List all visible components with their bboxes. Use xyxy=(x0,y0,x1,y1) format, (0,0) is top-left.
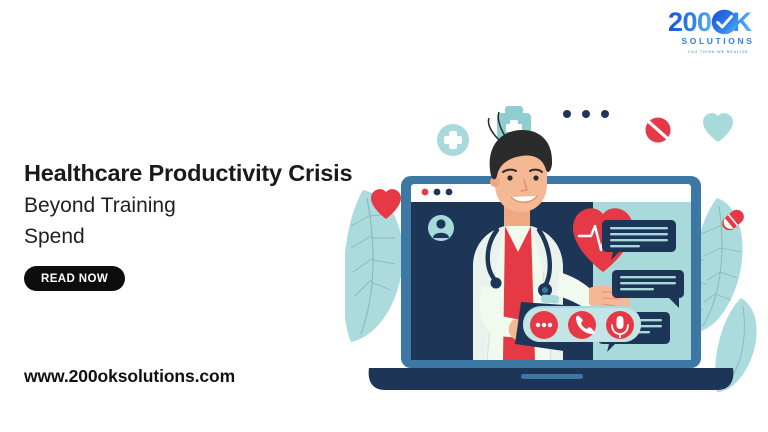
banner-root: 200 K SOLUTIONS YOU THINK WE REALI xyxy=(0,0,768,432)
leaf-icon-left xyxy=(345,190,403,342)
browser-dot-red xyxy=(422,189,429,196)
logo-subtitle: SOLUTIONS xyxy=(671,36,765,46)
brand-logo[interactable]: 200 K SOLUTIONS YOU THINK WE REALI xyxy=(655,8,765,56)
tablet-pill-icon xyxy=(646,118,671,143)
logo-number-text: 200 xyxy=(668,8,712,36)
telemedicine-illustration xyxy=(345,80,768,410)
logo-wordmark-row: 200 K xyxy=(655,8,765,36)
website-url[interactable]: www.200oksolutions.com xyxy=(24,366,235,387)
read-now-button[interactable]: READ NOW xyxy=(24,266,125,291)
laptop-trackpad-notch xyxy=(521,374,583,379)
user-avatar-icon xyxy=(428,215,454,241)
speech-bubble-icon xyxy=(545,94,627,148)
call-controls-group xyxy=(523,308,641,342)
microphone-icon[interactable] xyxy=(606,311,634,339)
browser-dot-3 xyxy=(446,189,453,196)
more-options-icon[interactable] xyxy=(530,311,558,339)
browser-dot-2 xyxy=(434,189,441,196)
logo-tagline: YOU THINK WE REALIZE xyxy=(671,50,765,54)
heart-icon-teal xyxy=(703,113,733,142)
check-icon xyxy=(711,9,738,35)
plus-circle-icon xyxy=(437,124,469,156)
phone-icon[interactable] xyxy=(568,311,596,339)
illustration-svg xyxy=(345,80,768,410)
